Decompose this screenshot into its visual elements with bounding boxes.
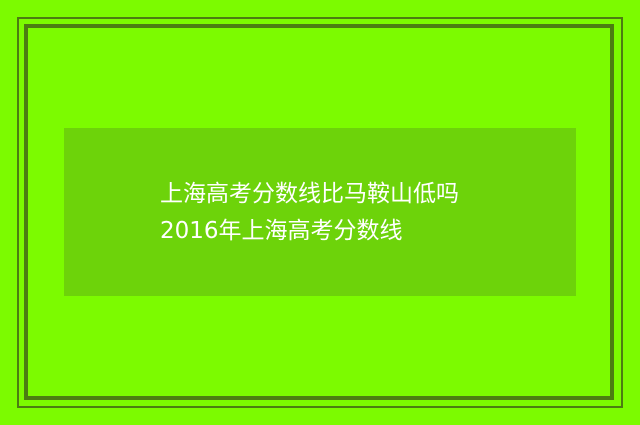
- headline-line-2: 2016年上海高考分数线: [160, 213, 560, 250]
- banner-canvas: 上海高考分数线比马鞍山低吗 2016年上海高考分数线: [0, 0, 640, 425]
- headline: 上海高考分数线比马鞍山低吗 2016年上海高考分数线: [160, 176, 560, 250]
- headline-line-1: 上海高考分数线比马鞍山低吗: [160, 176, 560, 213]
- headline-panel: 上海高考分数线比马鞍山低吗 2016年上海高考分数线: [64, 128, 576, 296]
